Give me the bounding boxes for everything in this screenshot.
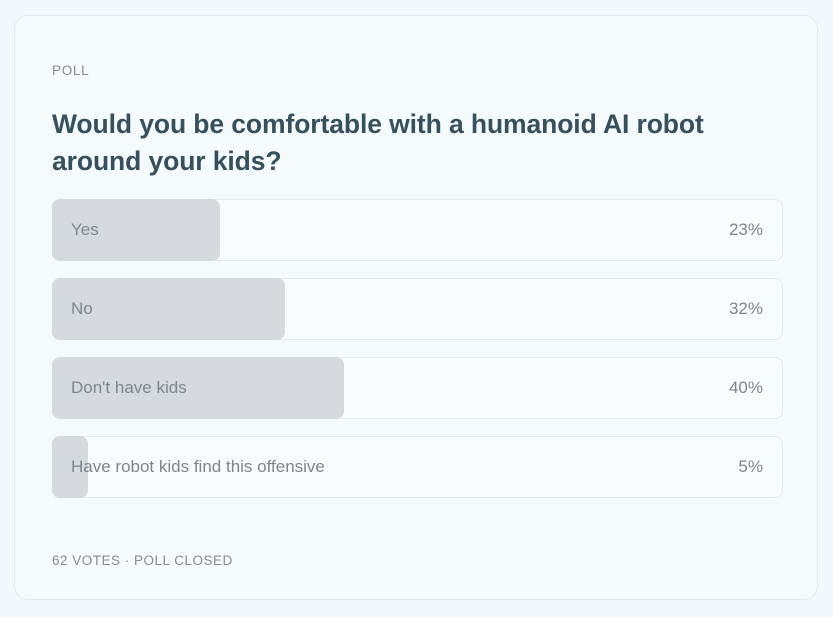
poll-options-list: Yes 23% No 32% Don't have kids 40% Have … — [52, 199, 783, 515]
poll-option-row[interactable]: Don't have kids 40% — [52, 357, 783, 419]
poll-option-row[interactable]: No 32% — [52, 278, 783, 340]
poll-footer-status: 62 VOTES · POLL CLOSED — [52, 553, 233, 568]
poll-option-label: No — [71, 279, 93, 339]
poll-option-row[interactable]: Yes 23% — [52, 199, 783, 261]
poll-option-percent: 40% — [729, 358, 763, 418]
poll-option-percent: 23% — [729, 200, 763, 260]
poll-option-percent: 5% — [738, 437, 763, 497]
poll-option-percent: 32% — [729, 279, 763, 339]
poll-option-row[interactable]: Have robot kids find this offensive 5% — [52, 436, 783, 498]
poll-card: POLL Would you be comfortable with a hum… — [14, 15, 818, 600]
poll-eyebrow-label: POLL — [52, 63, 89, 78]
poll-option-label: Don't have kids — [71, 358, 187, 418]
poll-option-label: Yes — [71, 200, 99, 260]
poll-option-label: Have robot kids find this offensive — [71, 437, 325, 497]
poll-question-title: Would you be comfortable with a humanoid… — [52, 106, 767, 180]
